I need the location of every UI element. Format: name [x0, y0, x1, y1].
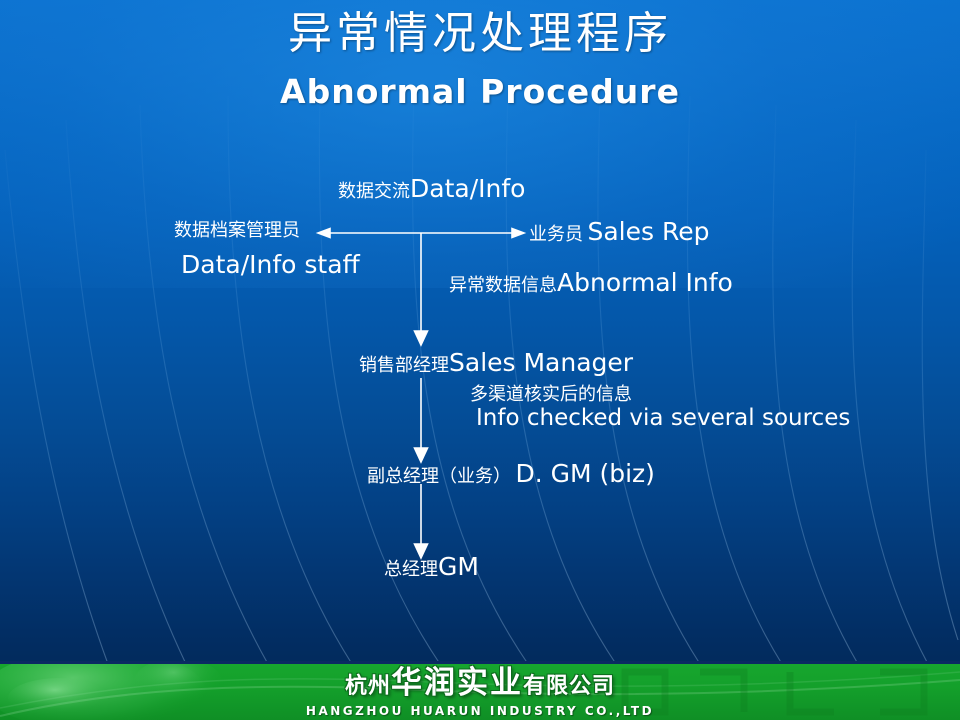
node-deputy-gm-cn: 副总经理（业务） — [367, 466, 511, 487]
node-general-manager-en: GM — [438, 552, 479, 581]
arrowhead-right — [512, 229, 524, 238]
slide-title-chinese: 异常情况处理程序 — [0, 8, 960, 60]
node-sales-manager-en: Sales Manager — [449, 348, 633, 377]
arrowhead-left — [318, 229, 330, 238]
node-general-manager-cn: 总经理 — [384, 559, 438, 580]
footer-company-name-cn: 杭州华润实业有限公司 — [345, 667, 615, 703]
edge-label-data-info-en: Data/Info — [410, 174, 525, 203]
node-data-info-staff-cn: 数据档案管理员 — [174, 222, 300, 241]
slide-title-english: Abnormal Procedure — [0, 72, 960, 111]
node-sales-rep-cn: 业务员 — [529, 224, 583, 245]
footer-logo-band: 杭州华润实业有限公司 HANGZHOU HUARUN INDUSTRY CO.,… — [0, 661, 960, 720]
slide-canvas: 异常情况处理程序 Abnormal Procedure 数据交流Data/Inf… — [0, 0, 960, 720]
arrowhead-deputy-gm — [415, 448, 428, 462]
edge-label-abnormal-info-cn: 异常数据信息 — [449, 275, 557, 296]
footer-company-suffix: 有限公司 — [523, 674, 615, 699]
edge-label-checked-info-en: Info checked via several sources — [476, 406, 850, 430]
edge-label-abnormal-info-en: Abnormal Info — [557, 268, 733, 297]
footer-company-main: 华润实业 — [391, 665, 523, 701]
edge-label-abnormal-info: 异常数据信息Abnormal Info — [449, 270, 733, 296]
footer-company-city: 杭州 — [345, 674, 391, 699]
node-sales-manager-cn: 销售部经理 — [359, 355, 449, 376]
node-deputy-gm-en: D. GM (biz) — [515, 459, 654, 488]
node-general-manager: 总经理GM — [384, 554, 479, 580]
footer-text-block: 杭州华润实业有限公司 HANGZHOU HUARUN INDUSTRY CO.,… — [0, 664, 960, 720]
node-sales-rep: 业务员 Sales Rep — [529, 219, 709, 245]
arrowhead-sales-manager — [415, 331, 428, 345]
edge-label-checked-info-cn: 多渠道核实后的信息 — [470, 386, 632, 405]
node-sales-manager: 销售部经理Sales Manager — [359, 350, 633, 376]
edge-label-data-info-cn: 数据交流 — [338, 181, 410, 202]
edge-label-data-info: 数据交流Data/Info — [338, 176, 525, 202]
node-sales-rep-en: Sales Rep — [587, 217, 709, 246]
node-deputy-gm: 副总经理（业务） D. GM (biz) — [367, 461, 655, 487]
node-data-info-staff-en: Data/Info staff — [181, 252, 360, 278]
footer-company-name-en: HANGZHOU HUARUN INDUSTRY CO.,LTD — [306, 704, 654, 718]
